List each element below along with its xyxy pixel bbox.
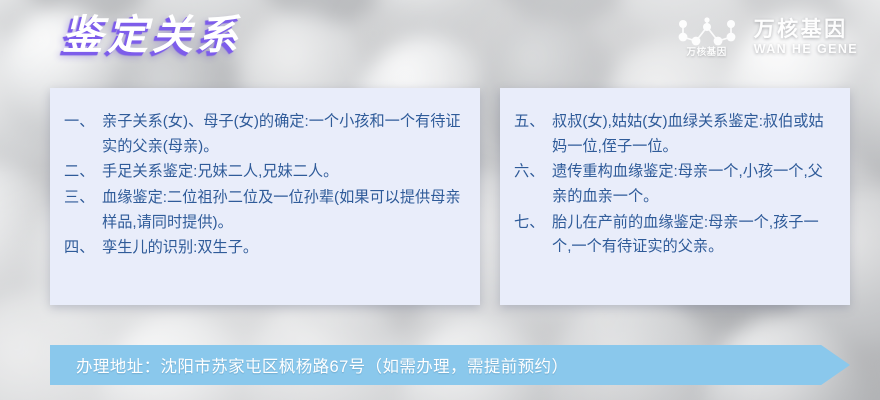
address-banner: 办理地址：沈阳市苏家屯区枫杨路67号（如需办理，需提前预约） — [50, 345, 850, 385]
list-item-number: 五、 — [514, 110, 552, 159]
brand-logo: 万核基因 万核基因 WAN HE GENE — [676, 16, 858, 58]
list-item-text: 手足关系鉴定:兄妹二人,兄妹二人。 — [102, 160, 464, 185]
list-item-text: 血缘鉴定:二位祖孙二位及一位孙辈(如果可以提供母亲样品,请同时提供)。 — [102, 186, 464, 235]
brand-mark-caption: 万核基因 — [686, 48, 726, 58]
list-item-number: 三、 — [64, 186, 102, 235]
list-item: 七、 胎儿在产前的血缘鉴定:母亲一个,孩子一个,一个有待证实的父亲。 — [514, 211, 834, 260]
poster-canvas: 鉴定关系 — [0, 0, 880, 400]
brand-wordmark: 万核基因 WAN HE GENE — [754, 19, 858, 56]
list-item-number: 二、 — [64, 160, 102, 185]
list-item-text: 胎儿在产前的血缘鉴定:母亲一个,孩子一个,一个有待证实的父亲。 — [552, 211, 834, 260]
list-item-number: 一、 — [64, 110, 102, 159]
molecule-node-icon — [676, 16, 738, 46]
list-item-number: 四、 — [64, 236, 102, 261]
content-panels: 一、 亲子关系(女)、母子(女)的确定:一个小孩和一个有待证实的父亲(母亲)。 … — [50, 88, 850, 305]
page-title: 鉴定关系 — [62, 14, 242, 57]
list-item-number: 六、 — [514, 160, 552, 209]
list-item: 一、 亲子关系(女)、母子(女)的确定:一个小孩和一个有待证实的父亲(母亲)。 — [64, 110, 464, 159]
list-item: 二、 手足关系鉴定:兄妹二人,兄妹二人。 — [64, 160, 464, 185]
brand-name-cn: 万核基因 — [754, 19, 858, 40]
list-item: 六、 遗传重构血缘鉴定:母亲一个,小孩一个,父亲的血亲一个。 — [514, 160, 834, 209]
brand-name-en: WAN HE GENE — [754, 43, 858, 56]
list-item: 三、 血缘鉴定:二位祖孙二位及一位孙辈(如果可以提供母亲样品,请同时提供)。 — [64, 186, 464, 235]
list-item-text: 孪生儿的识别:双生子。 — [102, 236, 464, 261]
list-item-text: 叔叔(女),姑姑(女)血绿关系鉴定:叔伯或姑妈一位,侄子一位。 — [552, 110, 834, 159]
address-text: 办理地址：沈阳市苏家屯区枫杨路67号（如需办理，需提前预约） — [76, 345, 568, 385]
list-item-text: 亲子关系(女)、母子(女)的确定:一个小孩和一个有待证实的父亲(母亲)。 — [102, 110, 464, 159]
panel-left: 一、 亲子关系(女)、母子(女)的确定:一个小孩和一个有待证实的父亲(母亲)。 … — [50, 88, 480, 305]
brand-mark: 万核基因 — [676, 16, 738, 58]
list-item-text: 遗传重构血缘鉴定:母亲一个,小孩一个,父亲的血亲一个。 — [552, 160, 834, 209]
list-item: 五、 叔叔(女),姑姑(女)血绿关系鉴定:叔伯或姑妈一位,侄子一位。 — [514, 110, 834, 159]
list-item: 四、 孪生儿的识别:双生子。 — [64, 236, 464, 261]
list-item-number: 七、 — [514, 211, 552, 260]
panel-right: 五、 叔叔(女),姑姑(女)血绿关系鉴定:叔伯或姑妈一位,侄子一位。 六、 遗传… — [500, 88, 850, 305]
